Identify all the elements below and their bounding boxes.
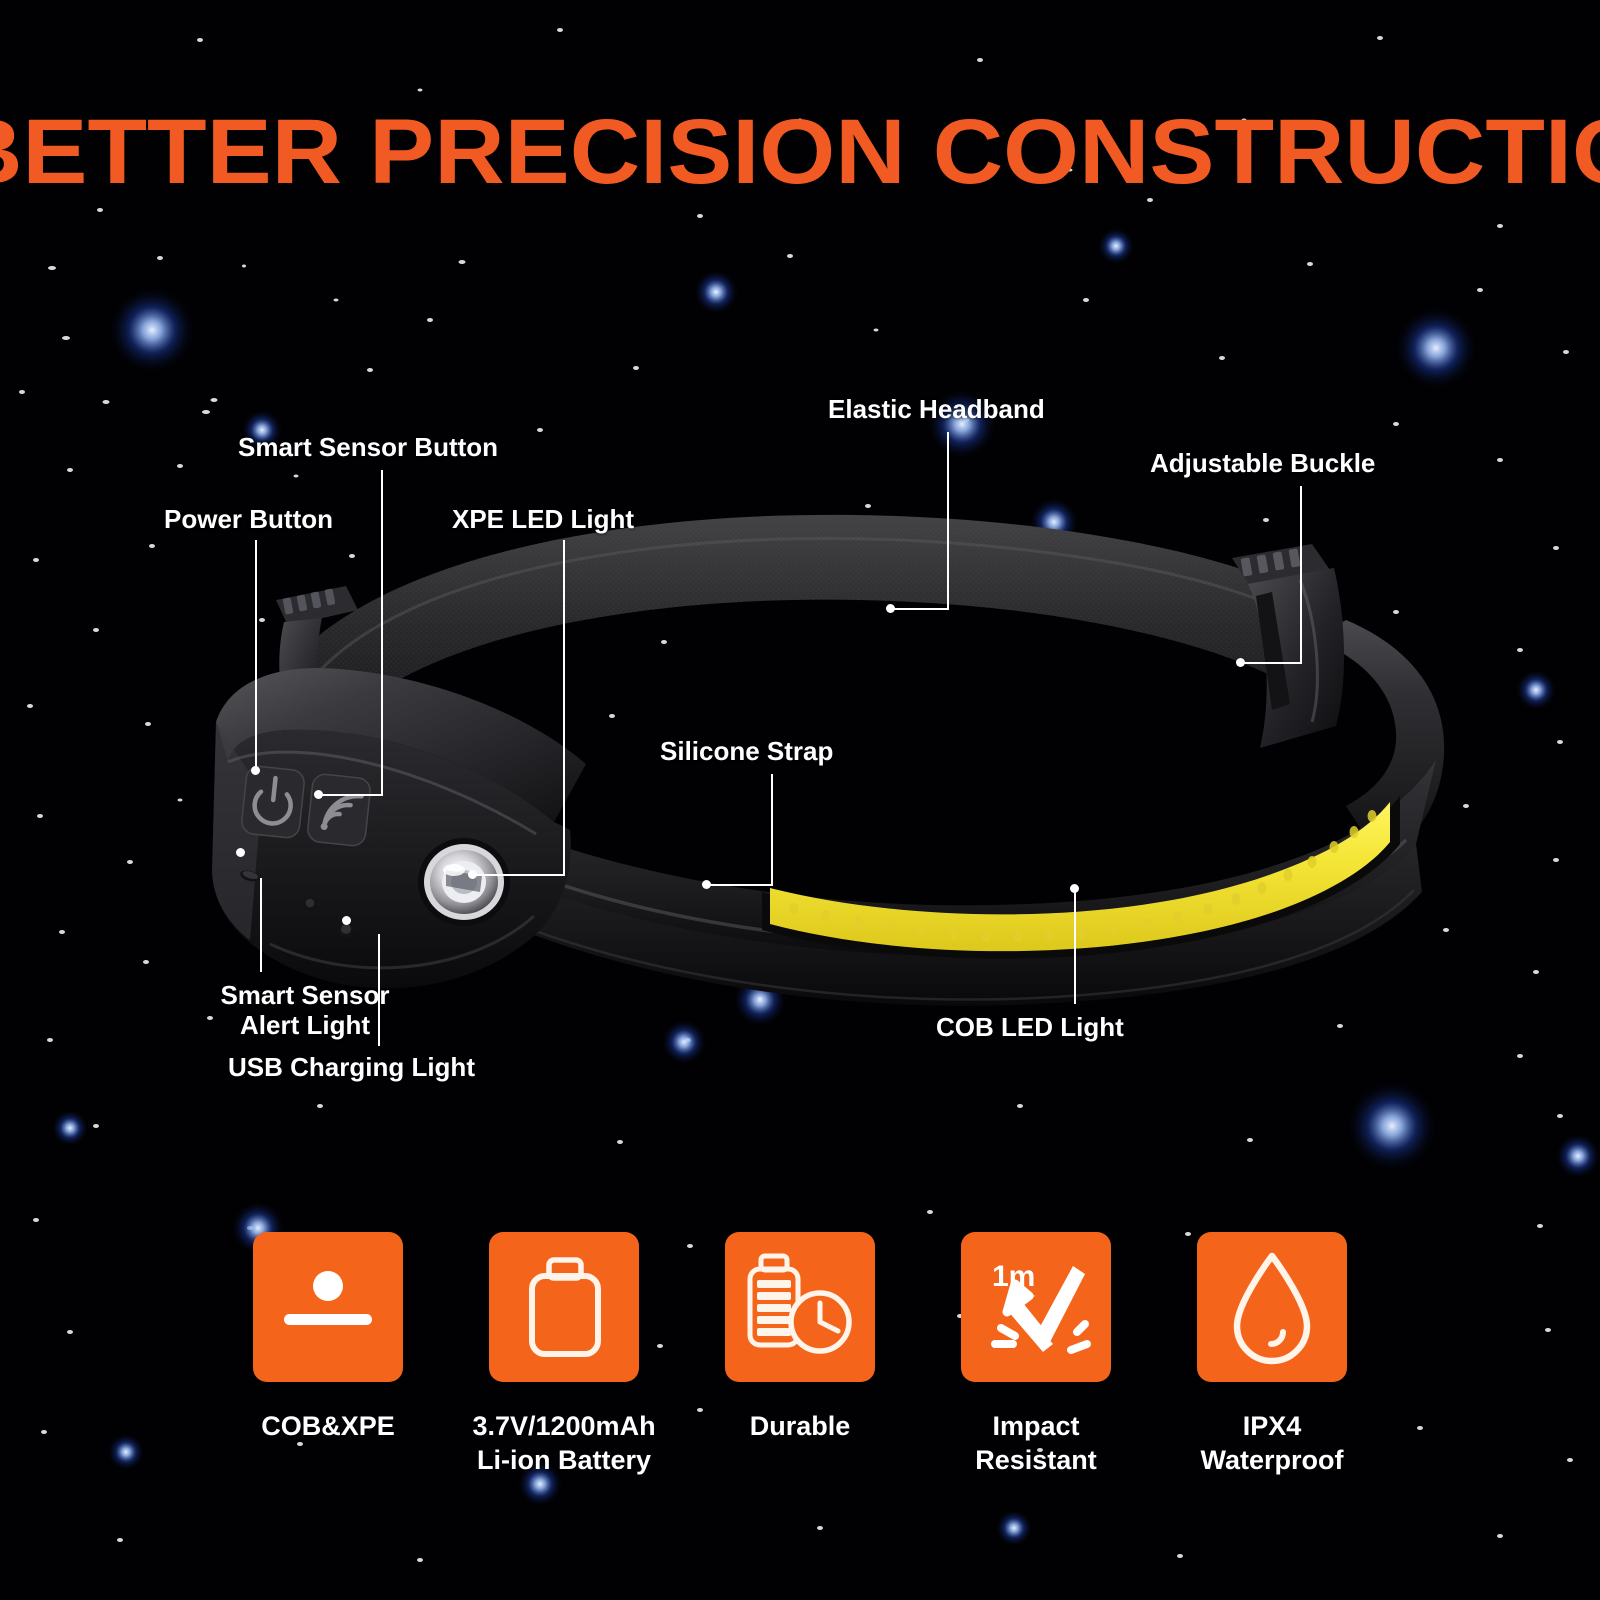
xpe-led-light — [418, 838, 510, 926]
callout-power-button: Power Button — [164, 504, 333, 534]
callout-silicone-strap: Silicone Strap — [660, 736, 833, 766]
leader-line-silicone-strap-h — [708, 884, 772, 886]
leader-dot-power-button — [251, 766, 260, 775]
feature-caption-waterproof: IPX4 Waterproof — [1201, 1409, 1344, 1477]
leader-line-usb-charging-light — [378, 934, 380, 1046]
leader-line-adjustable-buckle-v — [1300, 486, 1302, 664]
leader-dot-smart-sensor-button — [314, 790, 323, 799]
battery-clock-icon — [725, 1232, 875, 1382]
leader-line-silicone-strap-v — [771, 774, 773, 886]
lamp-housing — [212, 668, 586, 988]
feature-caption-durable: Durable — [750, 1409, 851, 1443]
callout-smart-sensor-button: Smart Sensor Button — [238, 432, 498, 462]
impact-resistant-tile[interactable]: 1m — [961, 1232, 1111, 1382]
battery-icon — [489, 1232, 639, 1382]
leader-line-power-button — [255, 540, 257, 770]
callout-usb-charging-light: USB Charging Light — [228, 1052, 475, 1082]
callout-smart-sensor-alert-light: Smart Sensor Alert Light — [140, 980, 470, 1040]
leader-dot-adjustable-buckle — [1236, 658, 1245, 667]
water-drop-icon — [1197, 1232, 1347, 1382]
feature-tile-row: COB&XPE 3.7V/1200mAh Li-ion Battery — [0, 1232, 1600, 1477]
feature-battery[interactable]: 3.7V/1200mAh Li-ion Battery — [489, 1232, 639, 1477]
callout-elastic-headband: Elastic Headband — [828, 394, 1045, 424]
leader-line-smart-sensor-button-v — [381, 470, 383, 796]
feature-caption-impact-resistant: Impact Resistant — [975, 1409, 1097, 1477]
leader-dot-silicone-strap — [702, 880, 711, 889]
feature-durable[interactable]: Durable — [725, 1232, 875, 1477]
feature-impact-resistant[interactable]: 1m Impact Resistant — [961, 1232, 1111, 1477]
leader-line-elastic-headband-v — [947, 432, 949, 610]
feature-caption-cob-xpe: COB&XPE — [261, 1409, 395, 1443]
leader-line-elastic-headband-h — [892, 608, 948, 610]
callout-adjustable-buckle: Adjustable Buckle — [1150, 448, 1375, 478]
cob-xpe-icon — [253, 1232, 403, 1382]
leader-line-smart-sensor-alert-light — [260, 878, 262, 972]
leader-line-smart-sensor-button-h — [318, 794, 382, 796]
infographic-canvas: BETTER PRECISION CONSTRUCTION — [0, 0, 1600, 1600]
leader-dot-elastic-headband — [886, 604, 895, 613]
feature-cob-xpe[interactable]: COB&XPE — [253, 1232, 403, 1477]
leader-line-xpe-led-light-h — [472, 874, 564, 876]
callout-cob-led-light: COB LED Light — [936, 1012, 1124, 1042]
durable-tile[interactable] — [725, 1232, 875, 1382]
feature-caption-battery: 3.7V/1200mAh Li-ion Battery — [472, 1409, 655, 1477]
cob-xpe-tile[interactable] — [253, 1232, 403, 1382]
leader-dot-xpe-led-light — [468, 870, 477, 879]
smart-sensor-button[interactable] — [307, 773, 372, 847]
callout-smart-sensor-alert-light-line1: Smart Sensor — [140, 980, 470, 1010]
feature-waterproof[interactable]: IPX4 Waterproof — [1197, 1232, 1347, 1477]
waterproof-tile[interactable] — [1197, 1232, 1347, 1382]
leader-line-adjustable-buckle-h — [1240, 662, 1302, 664]
leader-dot-usb-charging-light — [342, 916, 351, 925]
callout-smart-sensor-alert-light-line2: Alert Light — [140, 1010, 470, 1040]
impact-resistant-icon: 1m — [961, 1232, 1111, 1382]
leader-line-xpe-led-light-v — [563, 540, 565, 876]
battery-tile[interactable] — [489, 1232, 639, 1382]
page-title: BETTER PRECISION CONSTRUCTION — [0, 104, 1600, 200]
callout-xpe-led-light: XPE LED Light — [452, 504, 634, 534]
leader-dot-cob-led-light — [1070, 884, 1079, 893]
leader-line-cob-led-light — [1074, 892, 1076, 1004]
power-button[interactable] — [241, 765, 306, 839]
leader-dot-smart-sensor-alert-light — [236, 848, 245, 857]
